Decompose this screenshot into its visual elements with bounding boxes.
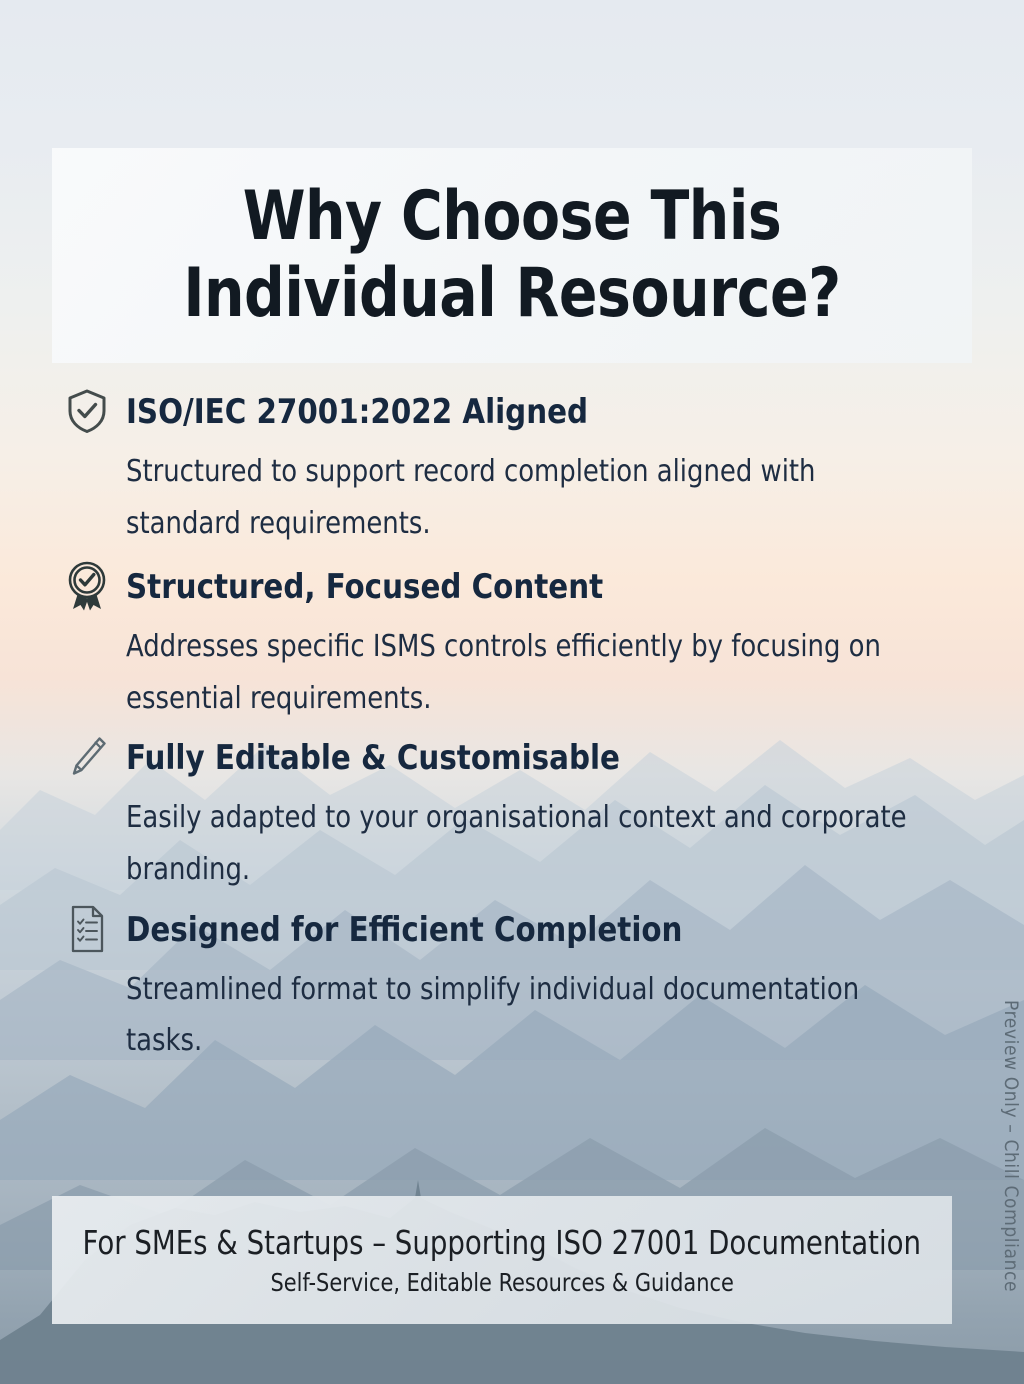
feature-header: Designed for Efficient Completion bbox=[62, 910, 972, 954]
feature-title: Designed for Efficient Completion bbox=[126, 910, 682, 950]
feature-list: ISO/IEC 27001:2022 Aligned Structured to… bbox=[62, 392, 972, 1073]
award-medal-icon bbox=[62, 561, 112, 611]
feature-item: Fully Editable & Customisable Easily ada… bbox=[62, 738, 972, 895]
feature-header: ISO/IEC 27001:2022 Aligned bbox=[62, 392, 972, 436]
shield-check-icon bbox=[62, 386, 112, 436]
footer-primary-text: For SMEs & Startups – Supporting ISO 270… bbox=[83, 1223, 921, 1262]
feature-title: Structured, Focused Content bbox=[126, 567, 603, 607]
feature-description: Structured to support record completion … bbox=[126, 446, 938, 549]
feature-title: ISO/IEC 27001:2022 Aligned bbox=[126, 392, 588, 432]
pencil-edit-icon bbox=[62, 732, 112, 782]
footer-banner: For SMEs & Startups – Supporting ISO 270… bbox=[52, 1196, 952, 1324]
preview-watermark: Preview Only – Chill Compliance bbox=[1000, 1000, 1022, 1292]
feature-item: ISO/IEC 27001:2022 Aligned Structured to… bbox=[62, 392, 972, 549]
feature-description: Easily adapted to your organisational co… bbox=[126, 792, 938, 895]
page-title: Why Choose This Individual Resource? bbox=[107, 179, 918, 331]
poster-canvas: Why Choose This Individual Resource? ISO… bbox=[0, 0, 1024, 1384]
feature-item: Designed for Efficient Completion Stream… bbox=[62, 910, 972, 1067]
feature-header: Fully Editable & Customisable bbox=[62, 738, 972, 782]
footer-secondary-text: Self-Service, Editable Resources & Guida… bbox=[270, 1268, 733, 1297]
feature-header: Structured, Focused Content bbox=[62, 567, 972, 611]
feature-item: Structured, Focused Content Addresses sp… bbox=[62, 567, 972, 724]
document-checklist-icon bbox=[62, 904, 112, 954]
feature-title: Fully Editable & Customisable bbox=[126, 738, 620, 778]
title-banner: Why Choose This Individual Resource? bbox=[52, 148, 972, 363]
feature-description: Addresses specific ISMS controls efficie… bbox=[126, 621, 938, 724]
feature-description: Streamlined format to simplify individua… bbox=[126, 964, 938, 1067]
